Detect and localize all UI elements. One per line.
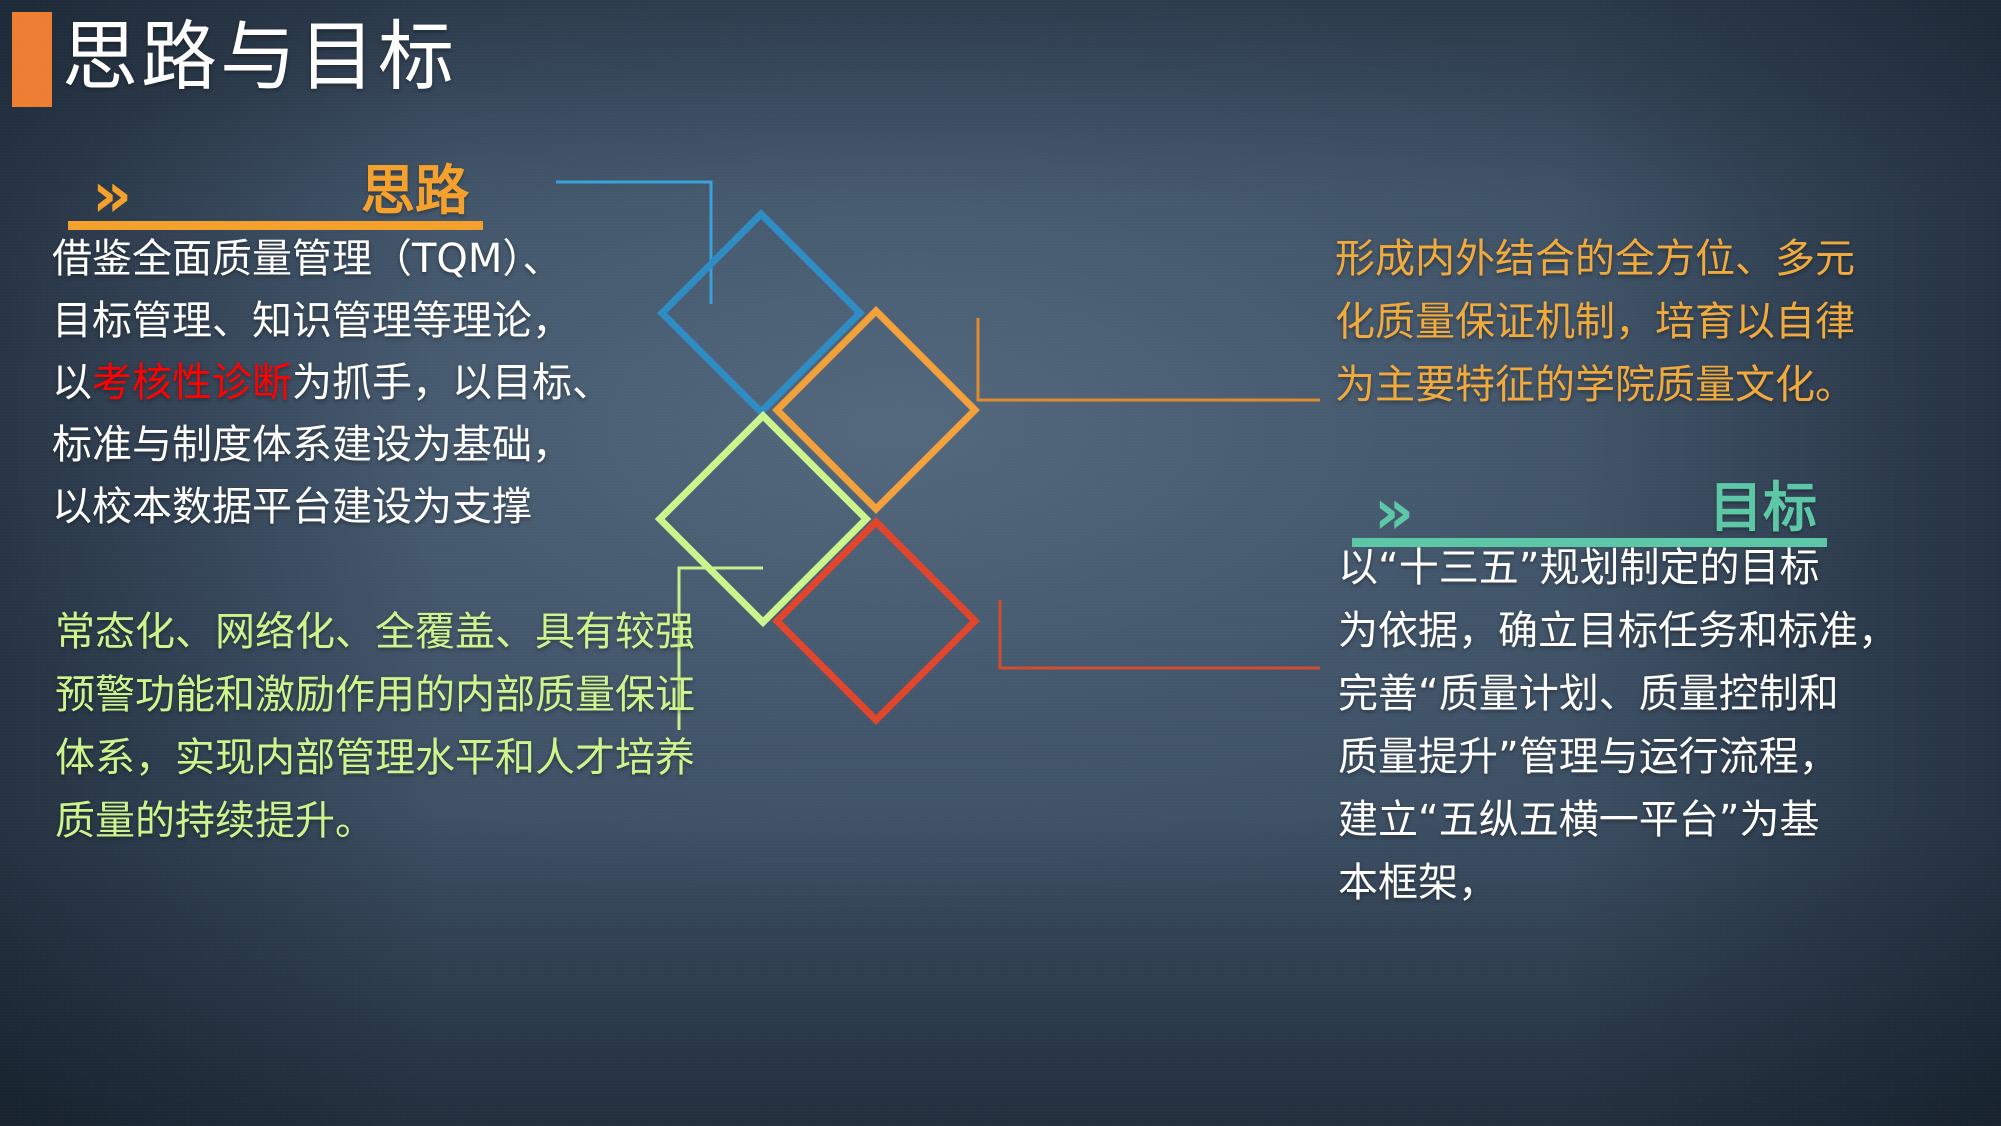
- paragraph-mubiao: 以“十三五”规划制定的目标 为依据，确立目标任务和标准， 完善“质量计划、质量控…: [1338, 537, 1978, 915]
- red-diamond: [777, 522, 975, 720]
- paragraph-silu: 借鉴全面质量管理（TQM）、 目标管理、知识管理等理论， 以考核性诊断为抓手，以…: [52, 228, 652, 538]
- section-header-silu: » 思路: [68, 160, 483, 230]
- red-connector: [1000, 600, 1320, 668]
- section-label-silu: 思路: [361, 160, 469, 222]
- paragraph-mubiao-outcome: 形成内外结合的全方位、多元 化质量保证机制，培育以自律 为主要特征的学院质量文化…: [1335, 228, 1975, 417]
- orange-connector-path: [978, 318, 1320, 400]
- silu-highlight: 考核性诊断: [92, 360, 292, 406]
- chevron-right-double-icon: »: [92, 168, 126, 222]
- slide-canvas: 思路与目标 » 思路 借鉴全面质量管理（TQM）、 目标管理、知识管理等理论， …: [0, 0, 2001, 1126]
- chevron-right-double-icon: »: [1374, 485, 1408, 539]
- paragraph-silu-outcome: 常态化、网络化、全覆盖、具有较强 预警功能和激励作用的内部质量保证 体系，实现内…: [55, 601, 695, 853]
- title-accent-bar: [12, 12, 52, 107]
- page-title: 思路与目标: [62, 9, 457, 105]
- green-diamond: [660, 416, 866, 622]
- section-label-mubiao: 目标: [1709, 477, 1817, 539]
- blue-diamond: [662, 214, 860, 412]
- orange-diamond: [777, 311, 975, 509]
